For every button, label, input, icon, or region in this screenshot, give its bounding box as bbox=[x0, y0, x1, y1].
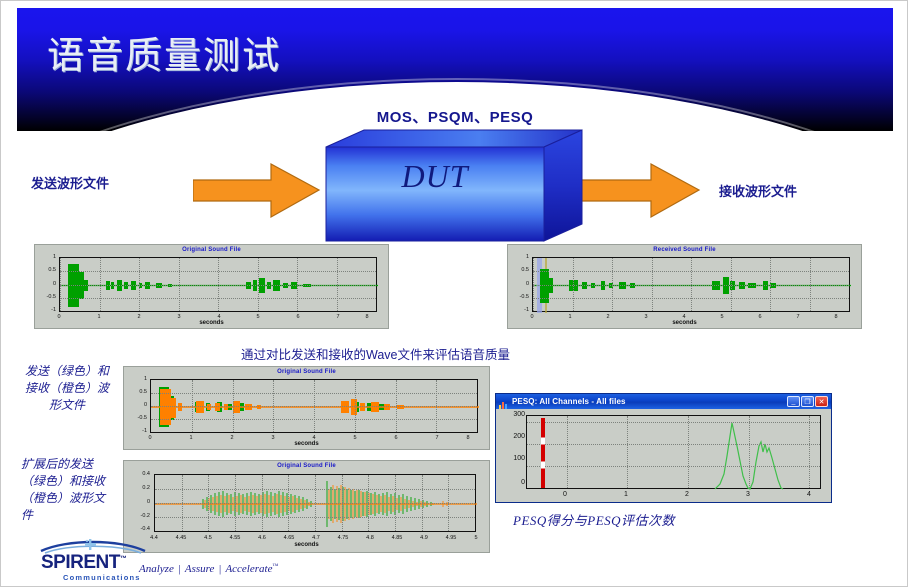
x-tick: 4.7 bbox=[306, 535, 326, 541]
y-tick: 1 bbox=[510, 254, 529, 260]
x-axis-label: seconds bbox=[124, 441, 489, 447]
y-tick: 0 bbox=[126, 402, 147, 408]
x-axis-label: seconds bbox=[508, 320, 861, 326]
pesq-y-tick: 0 bbox=[502, 479, 525, 486]
x-tick: 4.75 bbox=[333, 535, 353, 541]
slide: 语音质量测试 MOS、PSQM、PESQ 发送波形文件 接收波形文件 bbox=[0, 0, 908, 587]
tagline-analyze: Analyze bbox=[139, 563, 174, 575]
plot-axes bbox=[532, 257, 850, 312]
chart-title: Original Sound File bbox=[124, 463, 489, 469]
y-tick: -0.5 bbox=[37, 294, 56, 300]
page-title: 语音质量测试 bbox=[47, 25, 281, 79]
x-tick: 4.9 bbox=[414, 535, 434, 541]
spirent-logo-text: SPIRENT™ bbox=[41, 552, 126, 574]
waveform-trace bbox=[533, 258, 851, 313]
plot-axes bbox=[150, 379, 478, 433]
chart-received-sound-file: Received Sound File bbox=[507, 244, 862, 329]
x-tick: 4.55 bbox=[225, 535, 245, 541]
pesq-plot-axes bbox=[526, 415, 821, 489]
chart-title: Original Sound File bbox=[35, 247, 388, 253]
chart-zoomed-sound-file: Original Sound File bbox=[123, 460, 490, 553]
x-tick: 4.95 bbox=[441, 535, 461, 541]
tagline-accelerate: Accelerate bbox=[225, 563, 272, 575]
left-arrow-icon bbox=[193, 162, 321, 220]
pesq-x-tick: 1 bbox=[619, 491, 633, 498]
plot-axes bbox=[154, 474, 476, 532]
pesq-x-tick: 4 bbox=[802, 491, 816, 498]
tagline: Analyze|Assure|Accelerate™ bbox=[139, 563, 278, 575]
pesq-y-tick: 200 bbox=[502, 433, 525, 440]
receive-waveform-label: 接收波形文件 bbox=[719, 181, 797, 200]
pesq-y-tick: 100 bbox=[502, 455, 525, 462]
x-tick: 4.65 bbox=[279, 535, 299, 541]
chart-original-sound-file: Original Sound File bbox=[34, 244, 389, 329]
chart-overlay-sound-file: Original Sound File bbox=[123, 366, 490, 450]
brand-tm: ™ bbox=[120, 556, 127, 563]
brand-name: SPIRENT bbox=[41, 552, 120, 573]
y-tick: 0.2 bbox=[127, 485, 150, 491]
chart-title: Original Sound File bbox=[124, 369, 489, 375]
pesq-caption: PESQ得分与PESQ评估次数 bbox=[513, 510, 675, 529]
threshold-marker bbox=[541, 418, 545, 488]
slide-subtitle: MOS、PSQM、PESQ bbox=[1, 106, 908, 127]
send-waveform-label: 发送波形文件 bbox=[31, 173, 109, 192]
pesq-window[interactable]: PESQ: All Channels - All files _ ❐ ✕ 300… bbox=[495, 393, 832, 503]
y-tick: -0.2 bbox=[127, 513, 150, 519]
pesq-window-titlebar[interactable]: PESQ: All Channels - All files _ ❐ ✕ bbox=[496, 394, 831, 409]
y-tick: 0.5 bbox=[37, 267, 56, 273]
y-tick: 0 bbox=[37, 281, 56, 287]
tagline-tm: ™ bbox=[272, 563, 278, 569]
waveform-trace bbox=[151, 380, 479, 434]
y-tick: 0.5 bbox=[126, 389, 147, 395]
minimize-button[interactable]: _ bbox=[787, 396, 800, 407]
pesq-x-tick: 3 bbox=[741, 491, 755, 498]
y-tick: 0.5 bbox=[510, 267, 529, 273]
x-tick: 4.8 bbox=[360, 535, 380, 541]
pesq-window-body: 300 200 100 0 0 1 2 3 4 bbox=[496, 409, 831, 502]
x-tick: 4.6 bbox=[252, 535, 272, 541]
y-tick: -1 bbox=[37, 307, 56, 313]
x-axis-label: seconds bbox=[35, 320, 388, 326]
window-controls[interactable]: _ ❐ ✕ bbox=[787, 396, 829, 407]
tagline-assure: Assure bbox=[185, 563, 215, 575]
bar-chart-icon bbox=[499, 397, 509, 406]
waveform-legend-caption: 发送（绿色）和接收（橙色）波形文件 bbox=[21, 363, 113, 414]
x-tick: 4.4 bbox=[144, 535, 164, 541]
pesq-y-tick: 300 bbox=[502, 411, 525, 418]
y-tick: 1 bbox=[126, 376, 147, 382]
close-button[interactable]: ✕ bbox=[815, 396, 828, 407]
chart-title: Received Sound File bbox=[508, 247, 861, 253]
y-tick: 0 bbox=[510, 281, 529, 287]
right-arrow-icon bbox=[573, 162, 701, 220]
x-tick: 4.45 bbox=[171, 535, 191, 541]
y-tick: -0.5 bbox=[126, 415, 147, 421]
y-tick: -0.4 bbox=[127, 526, 150, 532]
y-tick: 0.4 bbox=[127, 471, 150, 477]
x-axis-label: seconds bbox=[124, 542, 489, 548]
y-tick: -1 bbox=[510, 307, 529, 313]
pesq-line-series bbox=[527, 416, 822, 490]
x-tick: 4.85 bbox=[387, 535, 407, 541]
waveform-trace bbox=[155, 475, 477, 533]
zoomed-waveform-caption: 扩展后的发送（绿色）和接收（橙色）波形文件 bbox=[21, 456, 113, 524]
plot-axes bbox=[59, 257, 377, 312]
center-caption: 通过对比发送和接收的Wave文件来评估语音质量 bbox=[241, 344, 510, 363]
y-tick: -1 bbox=[126, 428, 147, 434]
y-tick: 1 bbox=[37, 254, 56, 260]
pesq-x-tick: 0 bbox=[558, 491, 572, 498]
x-tick: 4.5 bbox=[198, 535, 218, 541]
maximize-button[interactable]: ❐ bbox=[801, 396, 814, 407]
waveform-trace bbox=[60, 258, 378, 313]
dut-label: DUT bbox=[323, 129, 547, 223]
pesq-window-title: PESQ: All Channels - All files bbox=[512, 397, 626, 406]
x-tick: 5 bbox=[466, 535, 486, 541]
brand-subtitle: Communications bbox=[63, 573, 141, 582]
y-tick: 0 bbox=[127, 499, 150, 505]
pesq-x-tick: 2 bbox=[680, 491, 694, 498]
y-tick: -0.5 bbox=[510, 294, 529, 300]
